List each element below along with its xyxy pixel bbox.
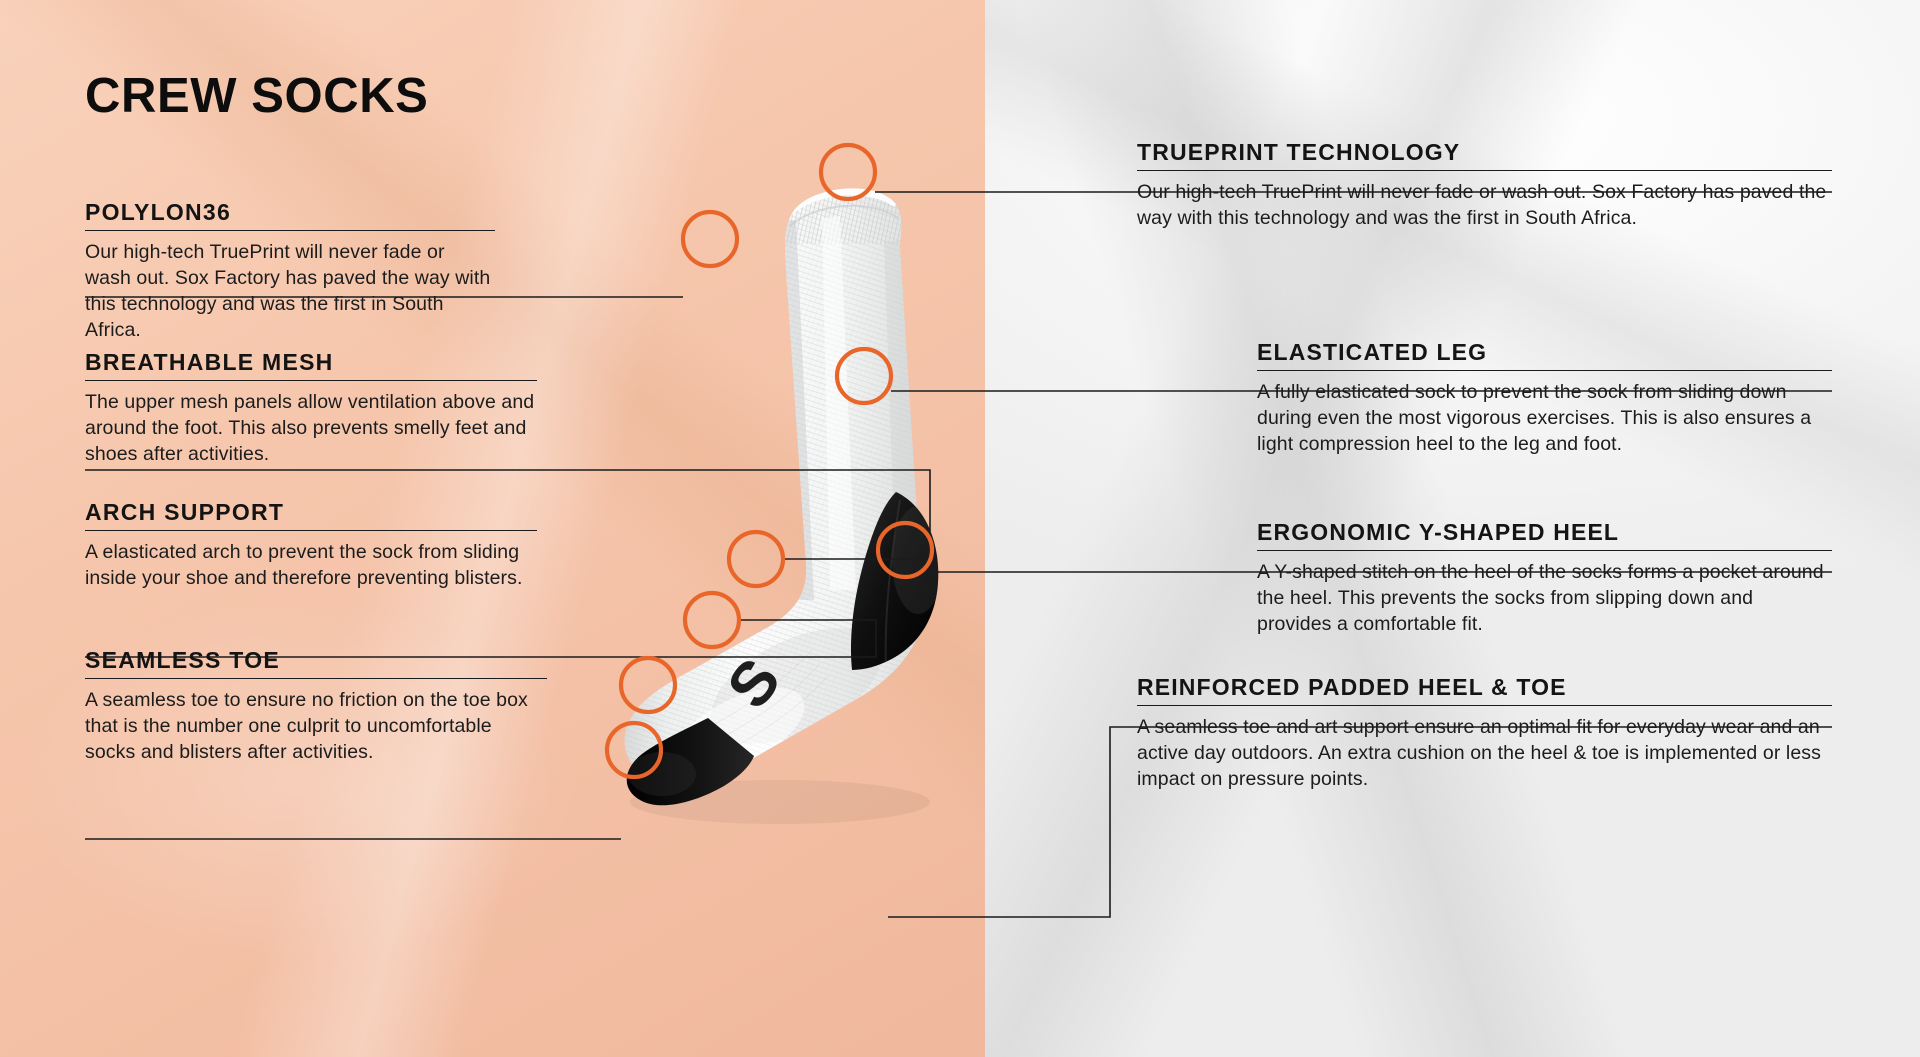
- feature-callout-arch-support: ARCH SUPPORT A elasticated arch to preve…: [85, 500, 537, 592]
- feature-body: Our high-tech TruePrint will never fade …: [1137, 180, 1832, 232]
- feature-body: A elasticated arch to prevent the sock f…: [85, 540, 537, 592]
- heading-rule: [85, 230, 495, 231]
- feature-heading: SEAMLESS TOE: [85, 648, 547, 672]
- feature-callout-elasticated-leg: ELASTICATED LEG A fully elasticated sock…: [1257, 340, 1832, 458]
- heading-rule: [85, 678, 547, 679]
- feature-heading: POLYLON36: [85, 200, 495, 224]
- crew-sock-photo: S: [600, 130, 1120, 930]
- page-title: CREW SOCKS: [85, 72, 428, 121]
- feature-callout-polylon36: POLYLON36 Our high-tech TruePrint will n…: [85, 200, 495, 344]
- heading-rule: [1137, 170, 1832, 171]
- feature-heading: ERGONOMIC Y-SHAPED HEEL: [1257, 520, 1832, 544]
- feature-body: A seamless toe and art support ensure an…: [1137, 715, 1832, 793]
- feature-callout-ergonomic-y-shaped-heel: ERGONOMIC Y-SHAPED HEEL A Y-shaped stitc…: [1257, 520, 1832, 638]
- infographic-canvas: S CREW SOCKS POLYLON36: [0, 0, 1920, 1057]
- heading-rule: [85, 380, 537, 381]
- feature-body: A seamless toe to ensure no friction on …: [85, 688, 547, 766]
- feature-heading: ELASTICATED LEG: [1257, 340, 1832, 364]
- feature-callout-seamless-toe: SEAMLESS TOE A seamless toe to ensure no…: [85, 648, 547, 766]
- feature-heading: BREATHABLE MESH: [85, 350, 537, 374]
- feature-callout-trueprint-technology: TRUEPRINT TECHNOLOGY Our high-tech TrueP…: [1137, 140, 1832, 232]
- heading-rule: [1257, 550, 1832, 551]
- feature-body: Our high-tech TruePrint will never fade …: [85, 240, 495, 344]
- heading-rule: [1137, 705, 1832, 706]
- heading-rule: [1257, 370, 1832, 371]
- feature-heading: TRUEPRINT TECHNOLOGY: [1137, 140, 1832, 164]
- feature-body: A fully elasticated sock to prevent the …: [1257, 380, 1832, 458]
- feature-callout-breathable-mesh: BREATHABLE MESH The upper mesh panels al…: [85, 350, 537, 468]
- feature-heading: ARCH SUPPORT: [85, 500, 537, 524]
- feature-body: The upper mesh panels allow ventilation …: [85, 390, 537, 468]
- feature-body: A Y-shaped stitch on the heel of the soc…: [1257, 560, 1832, 638]
- feature-callout-reinforced-padded-heel-toe: REINFORCED PADDED HEEL & TOE A seamless …: [1137, 675, 1832, 793]
- feature-heading: REINFORCED PADDED HEEL & TOE: [1137, 675, 1832, 699]
- heading-rule: [85, 530, 537, 531]
